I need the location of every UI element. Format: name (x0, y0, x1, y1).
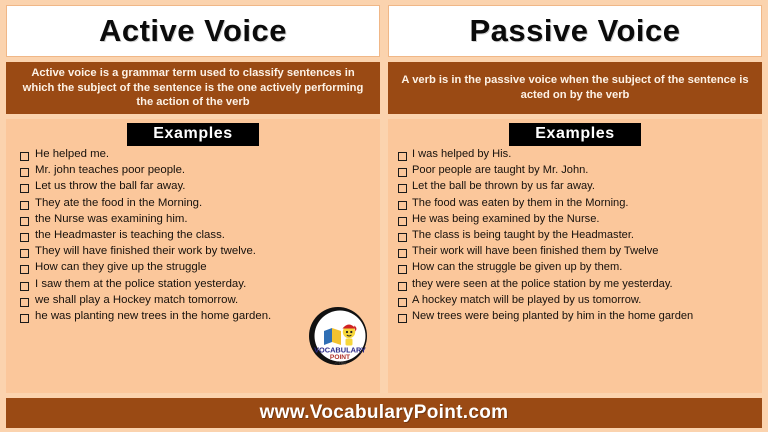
example-item: How can they give up the struggle (14, 262, 376, 274)
checkbox-icon (20, 168, 29, 177)
checkbox-icon (20, 282, 29, 291)
checkbox-icon (20, 314, 29, 323)
checkbox-icon (20, 217, 29, 226)
example-text: Poor people are taught by Mr. John. (412, 165, 588, 177)
example-text: How can they give up the struggle (35, 262, 207, 274)
passive-examples-list: I was helped by His.Poor people are taug… (388, 149, 762, 327)
example-text: The class is being taught by the Headmas… (412, 230, 634, 242)
infographic-poster: Active Voice Passive Voice Active voice … (0, 0, 768, 432)
passive-examples-badge: Examples (509, 123, 641, 146)
footer-bar: www.VocabularyPoint.com (6, 398, 762, 428)
example-item: A hockey match will be played by us tomo… (396, 295, 758, 307)
checkbox-icon (398, 249, 407, 258)
active-voice-title-box: Active Voice (6, 5, 380, 57)
definition-row: Active voice is a grammar term used to c… (6, 62, 762, 114)
checkbox-icon (20, 233, 29, 242)
active-examples-list: He helped me.Mr. john teaches poor peopl… (6, 149, 380, 327)
example-item: The food was eaten by them in the Mornin… (396, 198, 758, 210)
examples-columns: Examples He helped me.Mr. john teaches p… (6, 119, 762, 393)
example-text: he was planting new trees in the home ga… (35, 311, 271, 323)
passive-voice-definition: A verb is in the passive voice when the … (396, 73, 754, 103)
example-item: I saw them at the police station yesterd… (14, 279, 376, 291)
example-text: How can the struggle be given up by them… (412, 262, 622, 274)
example-item: Poor people are taught by Mr. John. (396, 165, 758, 177)
logo-line2: POINT (330, 354, 350, 361)
example-text: Their work will have been finished them … (412, 246, 658, 258)
checkbox-icon (20, 184, 29, 193)
title-row: Active Voice Passive Voice (6, 5, 762, 57)
example-text: A hockey match will be played by us tomo… (412, 295, 641, 307)
example-text: He was being examined by the Nurse. (412, 214, 599, 226)
checkbox-icon (398, 314, 407, 323)
checkbox-icon (398, 168, 407, 177)
example-text: I saw them at the police station yesterd… (35, 279, 246, 291)
example-item: They will have finished their work by tw… (14, 246, 376, 258)
example-text: I was helped by His. (412, 149, 511, 161)
passive-voice-definition-box: A verb is in the passive voice when the … (388, 62, 762, 114)
passive-voice-column: Examples I was helped by His.Poor people… (388, 119, 762, 393)
logo-line3: .COM (334, 360, 346, 365)
example-item: How can the struggle be given up by them… (396, 262, 758, 274)
checkbox-icon (20, 152, 29, 161)
example-item: Their work will have been finished them … (396, 246, 758, 258)
checkbox-icon (398, 217, 407, 226)
example-text: Let the ball be thrown by us far away. (412, 181, 595, 193)
checkbox-icon (20, 249, 29, 258)
active-examples-badge: Examples (127, 123, 259, 146)
example-item: they were seen at the police station by … (396, 279, 758, 291)
checkbox-icon (398, 298, 407, 307)
example-item: They ate the food in the Morning. (14, 198, 376, 210)
example-item: The class is being taught by the Headmas… (396, 230, 758, 242)
checkbox-icon (398, 233, 407, 242)
example-text: The food was eaten by them in the Mornin… (412, 198, 628, 210)
example-text: Let us throw the ball far away. (35, 181, 185, 193)
example-item: Let the ball be thrown by us far away. (396, 181, 758, 193)
example-item: we shall play a Hockey match tomorrow. (14, 295, 376, 307)
checkbox-icon (398, 152, 407, 161)
active-voice-definition: Active voice is a grammar term used to c… (14, 66, 372, 110)
example-text: Mr. john teaches poor people. (35, 165, 185, 177)
example-text: they were seen at the police station by … (412, 279, 673, 291)
checkbox-icon (398, 184, 407, 193)
checkbox-icon (398, 282, 407, 291)
example-item: Let us throw the ball far away. (14, 181, 376, 193)
example-item: the Nurse was examining him. (14, 214, 376, 226)
passive-voice-title-box: Passive Voice (388, 5, 762, 57)
passive-voice-title: Passive Voice (469, 13, 680, 49)
example-item: New trees were being planted by him in t… (396, 311, 758, 323)
checkbox-icon (20, 201, 29, 210)
example-item: I was helped by His. (396, 149, 758, 161)
example-item: He helped me. (14, 149, 376, 161)
checkbox-icon (398, 265, 407, 274)
checkbox-icon (20, 265, 29, 274)
example-text: They will have finished their work by tw… (35, 246, 256, 258)
active-voice-column: Examples He helped me.Mr. john teaches p… (6, 119, 380, 393)
example-item: Mr. john teaches poor people. (14, 165, 376, 177)
active-voice-title: Active Voice (99, 13, 287, 49)
example-item: He was being examined by the Nurse. (396, 214, 758, 226)
footer-website: www.VocabularyPoint.com (260, 402, 509, 424)
example-text: we shall play a Hockey match tomorrow. (35, 295, 238, 307)
checkbox-icon (398, 201, 407, 210)
example-item: he was planting new trees in the home ga… (14, 311, 376, 323)
example-text: the Headmaster is teaching the class. (35, 230, 225, 242)
active-voice-definition-box: Active voice is a grammar term used to c… (6, 62, 380, 114)
example-item: the Headmaster is teaching the class. (14, 230, 376, 242)
logo-line1: VOCABULARY (314, 346, 366, 355)
example-text: New trees were being planted by him in t… (412, 311, 693, 323)
example-text: the Nurse was examining him. (35, 214, 188, 226)
example-text: They ate the food in the Morning. (35, 198, 202, 210)
checkbox-icon (20, 298, 29, 307)
example-text: He helped me. (35, 149, 109, 161)
